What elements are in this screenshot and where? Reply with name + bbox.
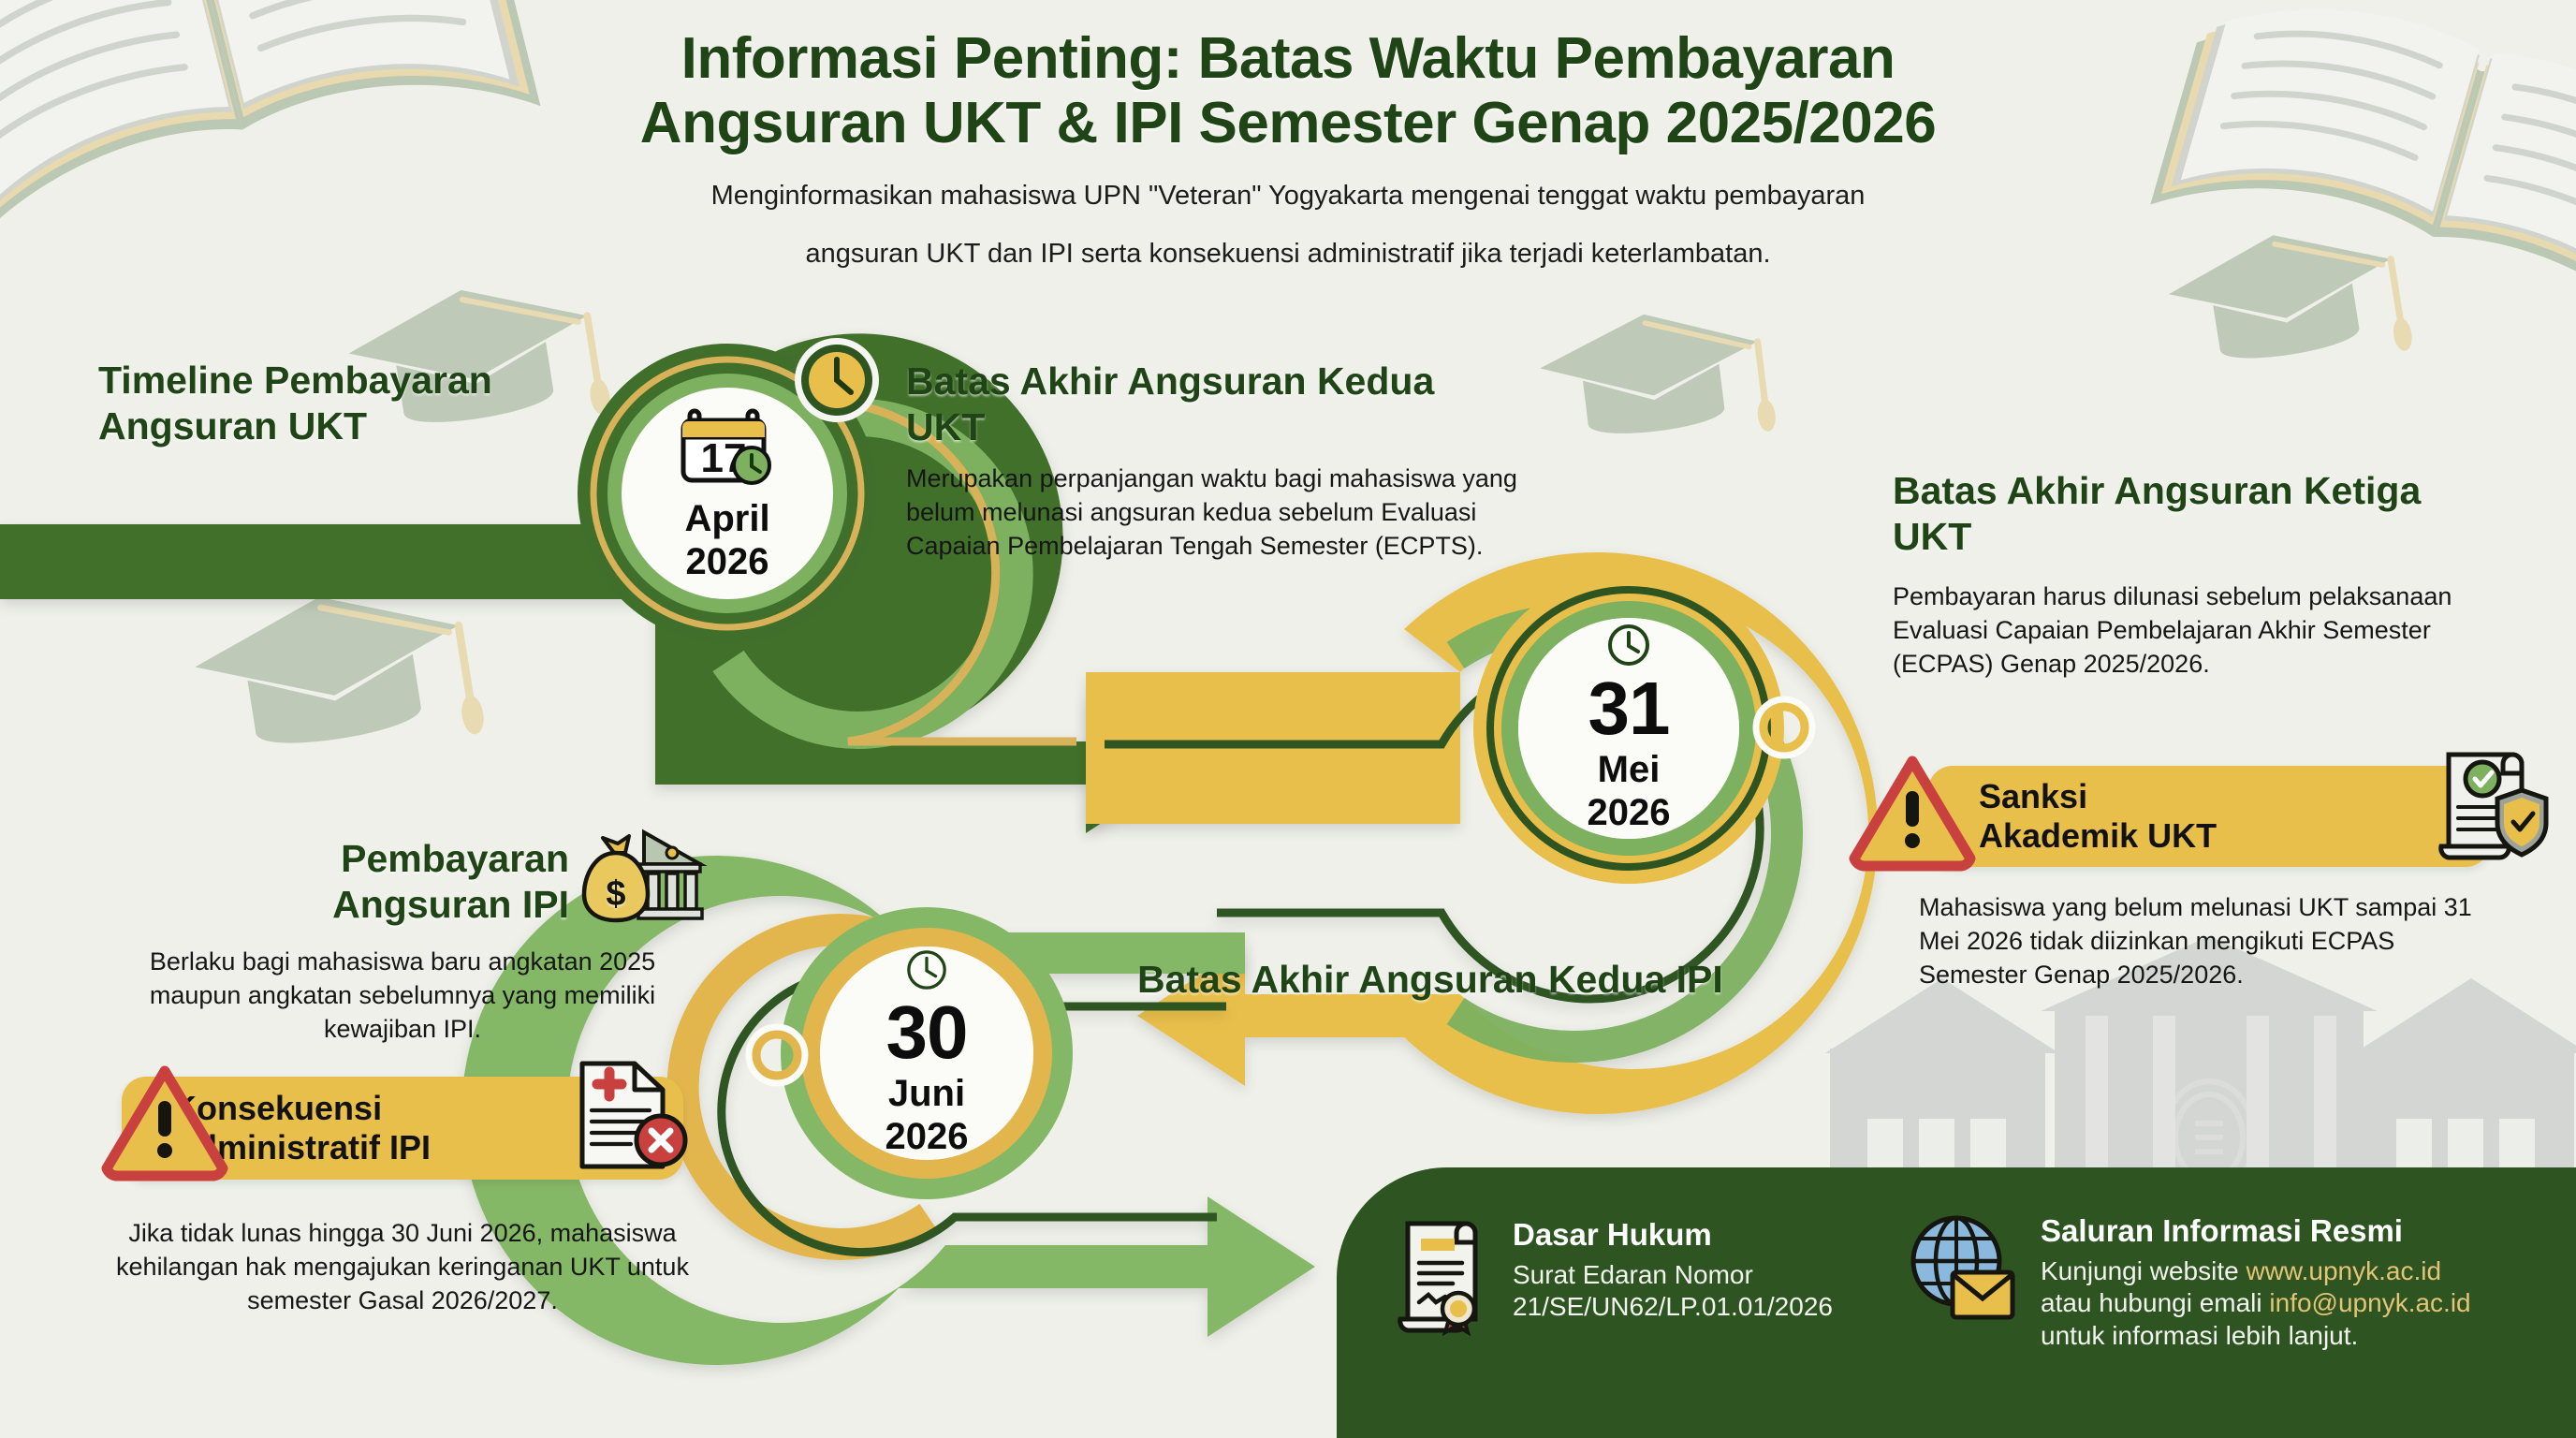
section-body-sanksi-ukt: Mahasiswa yang belum melunasi UKT sampai… bbox=[1919, 891, 2490, 992]
warning-triangle-icon bbox=[101, 1064, 228, 1178]
section-body-ketiga-ukt: Pembayaran harus dilunasi sebelum pelaks… bbox=[1893, 580, 2473, 682]
section-body-konsekuensi-ipi: Jika tidak lunas hingga 30 Juni 2026, ma… bbox=[103, 1217, 702, 1318]
svg-text:$: $ bbox=[606, 874, 625, 914]
page-title-line1: Informasi Penting: Batas Waktu Pembayara… bbox=[0, 26, 2576, 91]
section-heading-ipi-line2: Angsuran IPI bbox=[332, 882, 569, 928]
text-content-layer: Informasi Penting: Batas Waktu Pembayara… bbox=[0, 0, 2576, 1438]
section-heading-kedua-ukt: Batas Akhir Angsuran Kedua UKT bbox=[906, 359, 1486, 450]
section-heading-ipi-line1: Pembayaran bbox=[332, 836, 569, 882]
section-heading-timeline-ukt: Timeline Pembayaran Angsuran UKT bbox=[98, 358, 585, 449]
badge-sanksi-akademik: Sanksi Akademik UKT bbox=[1928, 766, 2490, 867]
page-subtitle-line2: angsuran UKT dan IPI serta konsekuensi a… bbox=[464, 235, 2112, 272]
section-heading-ketiga-ukt: Batas Akhir Angsuran Ketiga UKT bbox=[1893, 468, 2473, 560]
infographic-canvas: 17 April 2026 bbox=[0, 0, 2576, 1438]
bank-moneybag-icon: $ bbox=[582, 829, 702, 926]
verified-document-icon bbox=[2434, 749, 2554, 863]
page-title-line2: Angsuran UKT & IPI Semester Genap 2025/2… bbox=[0, 91, 2576, 155]
section-body-pembayaran-ipi: Berlaku bagi mahasiswa baru angkatan 202… bbox=[103, 946, 702, 1047]
rejected-document-icon bbox=[569, 1058, 689, 1172]
section-heading-pembayaran-ipi: Pembayaran Angsuran IPI bbox=[103, 829, 702, 928]
section-heading-kedua-ipi: Batas Akhir Angsuran Kedua IPI bbox=[1137, 957, 1736, 1003]
warning-triangle-icon bbox=[1849, 754, 1976, 868]
badge-sanksi-line1: Sanksi bbox=[1979, 777, 2217, 816]
badge-sanksi-line2: Akademik UKT bbox=[1979, 816, 2217, 856]
page-subtitle-line1: Menginformasikan mahasiswa UPN "Veteran"… bbox=[464, 177, 2112, 214]
page-header: Informasi Penting: Batas Waktu Pembayara… bbox=[0, 26, 2576, 272]
section-body-kedua-ukt: Merupakan perpanjangan waktu bagi mahasi… bbox=[906, 462, 1561, 564]
